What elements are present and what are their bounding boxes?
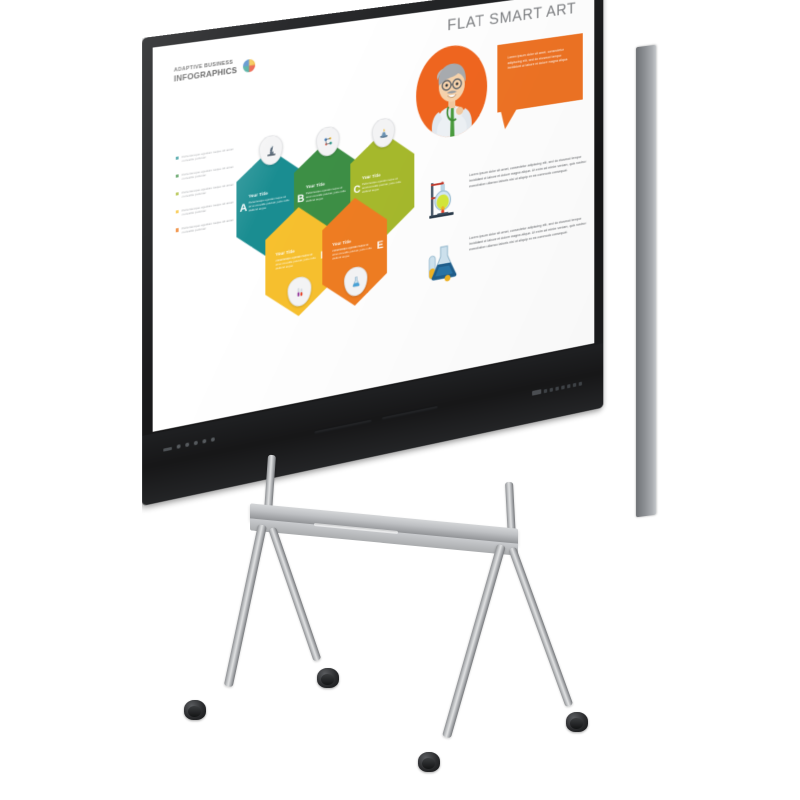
stand-leg-back-right (508, 547, 573, 708)
legend-list: Pellentesque egestas neque sit amet conv… (176, 147, 235, 246)
logo-line-1: ADAPTIVE BUSINESS (174, 60, 237, 74)
hdmi-port[interactable] (544, 388, 547, 392)
hexagon-letter: B (297, 193, 304, 206)
front-control-buttons[interactable] (163, 437, 215, 451)
hexagon-body: Pellentesque egestas neque sit amet conv… (332, 243, 372, 261)
speech-bubble-text: Lorem ipsum dolor sit amet, consectetur … (508, 46, 575, 71)
caster-wheel-back-left (317, 668, 339, 688)
list-item: Pellentesque egestas neque sit amet conv… (176, 200, 235, 218)
aux-port-1[interactable] (567, 384, 570, 388)
legend-text: Pellentesque egestas neque sit amet conv… (182, 182, 235, 199)
erlenmeyer-flask-test-tube-icon (427, 238, 462, 286)
stand-leg-front-right (442, 544, 506, 739)
audio-port[interactable] (555, 386, 558, 390)
speaker-grille-left (314, 419, 372, 435)
logo-line-2: INFOGRAPHICS (174, 66, 237, 83)
hexagon-c[interactable]: C Your Title Pellentesque egestas neque … (350, 127, 414, 245)
speaker-grille-right (382, 405, 438, 420)
list-item: Pellentesque egestas neque sit amet conv… (176, 147, 235, 164)
brand-logo: ADAPTIVE BUSINESS INFOGRAPHICS (174, 57, 256, 83)
hexagon-a[interactable]: A Your Title Pellentesque egestas neque … (236, 144, 303, 264)
hexagon-title: Your Title (362, 173, 381, 181)
presentation-slide[interactable]: ADAPTIVE BUSINESS INFOGRAPHICS (153, 0, 595, 432)
legend-marker (176, 210, 179, 214)
bunsen-burner-icon (372, 117, 395, 149)
lan-port[interactable] (561, 385, 564, 389)
hexagon-body: Pellentesque egestas neque sit amet conv… (276, 253, 316, 271)
volume-up-button[interactable] (194, 441, 198, 446)
panel-side-edge (636, 45, 656, 518)
hexagon-title: Your Title (332, 239, 351, 247)
legend-marker (176, 174, 179, 178)
dna-molecule-icon (316, 125, 340, 158)
legend-marker (176, 192, 179, 196)
hexagon-title: Your Title (276, 249, 295, 257)
legend-text: Pellentesque egestas neque sit amet conv… (182, 147, 235, 163)
product-photo-scene: ADAPTIVE BUSINESS INFOGRAPHICS (0, 0, 800, 800)
scientist-avatar (416, 41, 487, 142)
interactive-flat-panel-display[interactable]: ADAPTIVE BUSINESS INFOGRAPHICS (142, 38, 682, 508)
list-item: Pellentesque egestas neque sit amet conv… (176, 165, 235, 183)
speech-bubble: Lorem ipsum dolor sit amet, consectetur … (497, 33, 582, 112)
stand-leg-front-left (224, 524, 267, 687)
legend-marker (176, 156, 179, 160)
power-button[interactable] (163, 446, 172, 451)
test-tubes-icon (288, 275, 312, 308)
hexagon-letter: D (321, 249, 328, 262)
hexagon-letter: E (377, 239, 384, 252)
usb-port[interactable] (532, 389, 541, 396)
hexagon-title: Your Title (306, 182, 325, 190)
hexagon-d[interactable]: D Your Title Pellentesque egestas neque … (265, 202, 331, 322)
logo-sphere-icon (242, 57, 256, 74)
status-led (211, 437, 215, 442)
caster-wheel-front-left (184, 700, 206, 720)
caster-wheel-back-right (566, 712, 588, 732)
aux-port-3[interactable] (579, 381, 582, 385)
flask-icon (344, 265, 367, 298)
hexagon-cluster: A Your Title Pellentesque egestas neque … (236, 90, 435, 331)
screen-glare (153, 0, 595, 432)
info-row-text: Lorem ipsum dolor sit amet, consectetur … (469, 154, 588, 190)
hexagon-letter: A (240, 202, 247, 215)
hexagon-body: Pellentesque egestas neque sit amet conv… (249, 195, 293, 214)
info-row-1: Lorem ipsum dolor sit amet, consectetur … (427, 154, 588, 222)
hexagon-body: Pellentesque egestas neque sit amet conv… (362, 176, 404, 194)
legend-marker (176, 228, 179, 232)
legend-text: Pellentesque egestas neque sit amet conv… (182, 200, 235, 217)
slide-title: FLAT SMART ART (447, 0, 576, 35)
stand-leg-back-left (268, 527, 321, 662)
chassis-shading (142, 0, 603, 506)
hexagon-letter: C (353, 183, 360, 196)
hexagon-body: Pellentesque egestas neque sit amet conv… (306, 185, 349, 203)
list-item: Pellentesque egestas neque sit amet conv… (176, 182, 235, 200)
bottom-bezel (142, 343, 603, 506)
display-chassis: ADAPTIVE BUSINESS INFOGRAPHICS (142, 0, 603, 506)
aux-port-2[interactable] (573, 382, 576, 386)
list-item: Pellentesque egestas neque sit amet conv… (176, 218, 235, 236)
vga-port[interactable] (550, 387, 553, 391)
menu-button[interactable] (177, 444, 181, 449)
hexagon-e[interactable]: E Your Title Pellentesque egestas neque … (322, 193, 387, 312)
hexagon-b[interactable]: B Your Title Pellentesque egestas neque … (294, 136, 359, 255)
microscope-icon (259, 134, 283, 167)
display-screen[interactable]: ADAPTIVE BUSINESS INFOGRAPHICS (153, 0, 595, 432)
legend-text: Pellentesque egestas neque sit amet conv… (182, 165, 235, 182)
legend-text: Pellentesque egestas neque sit amet conv… (182, 218, 235, 235)
speech-bubble-tail (501, 109, 517, 130)
io-ports[interactable] (532, 381, 582, 396)
source-button[interactable] (202, 439, 206, 444)
hexagon-title: Your Title (249, 191, 268, 199)
info-row-2: Lorem ipsum dolor sit amet, consectetur … (427, 216, 588, 286)
caster-wheel-front-right (418, 752, 440, 772)
flask-on-burner-icon (427, 175, 462, 222)
info-row-text: Lorem ipsum dolor sit amet, consectetur … (469, 216, 588, 254)
volume-down-button[interactable] (185, 442, 189, 447)
